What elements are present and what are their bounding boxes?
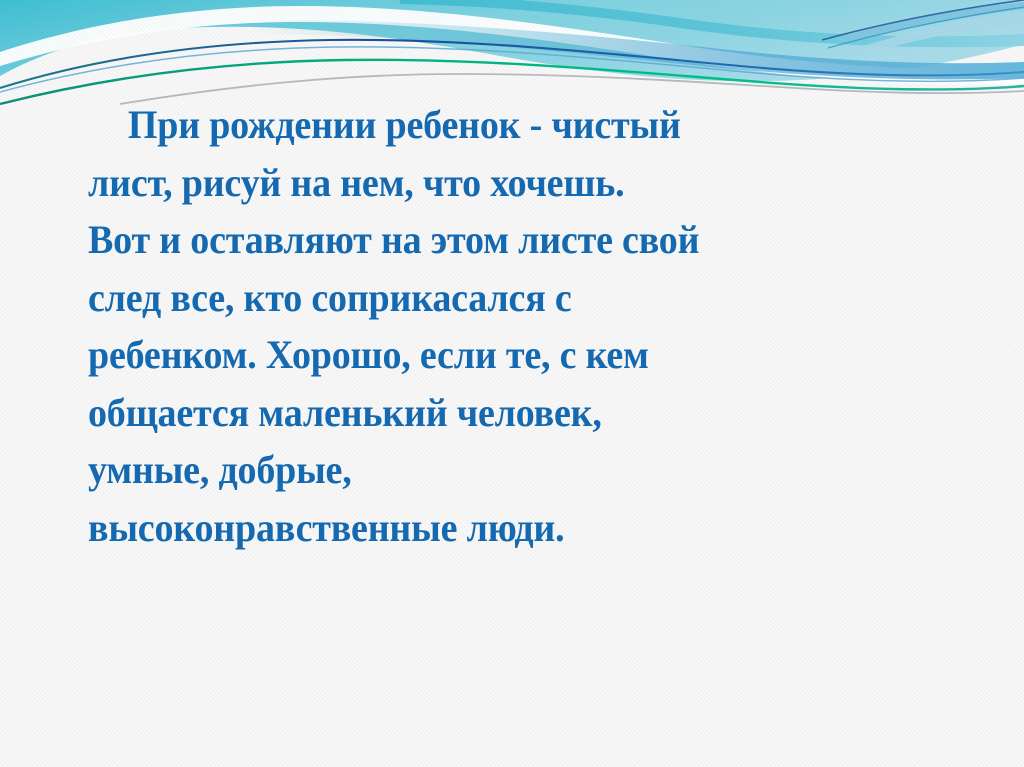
quote-line-4: след все, кто соприкасался с <box>88 269 916 327</box>
quote-line-3: Вот и оставляют на этом листе свой <box>88 211 916 269</box>
quote-line-1: При рождении ребенок - чистый <box>88 96 916 154</box>
quote-line-8: высоконравственные люди. <box>88 499 916 557</box>
quote-text-block: При рождении ребенок - чистый лист, рису… <box>88 96 960 556</box>
quote-line-7: умные, добрые, <box>88 441 916 499</box>
slide-canvas: При рождении ребенок - чистый лист, рису… <box>0 0 1024 767</box>
quote-line-5: ребенком. Хорошо, если те, с кем <box>88 326 916 384</box>
quote-line-2: лист, рисуй на нем, что хочешь. <box>88 154 916 212</box>
quote-line-6: общается маленький человек, <box>88 384 916 442</box>
